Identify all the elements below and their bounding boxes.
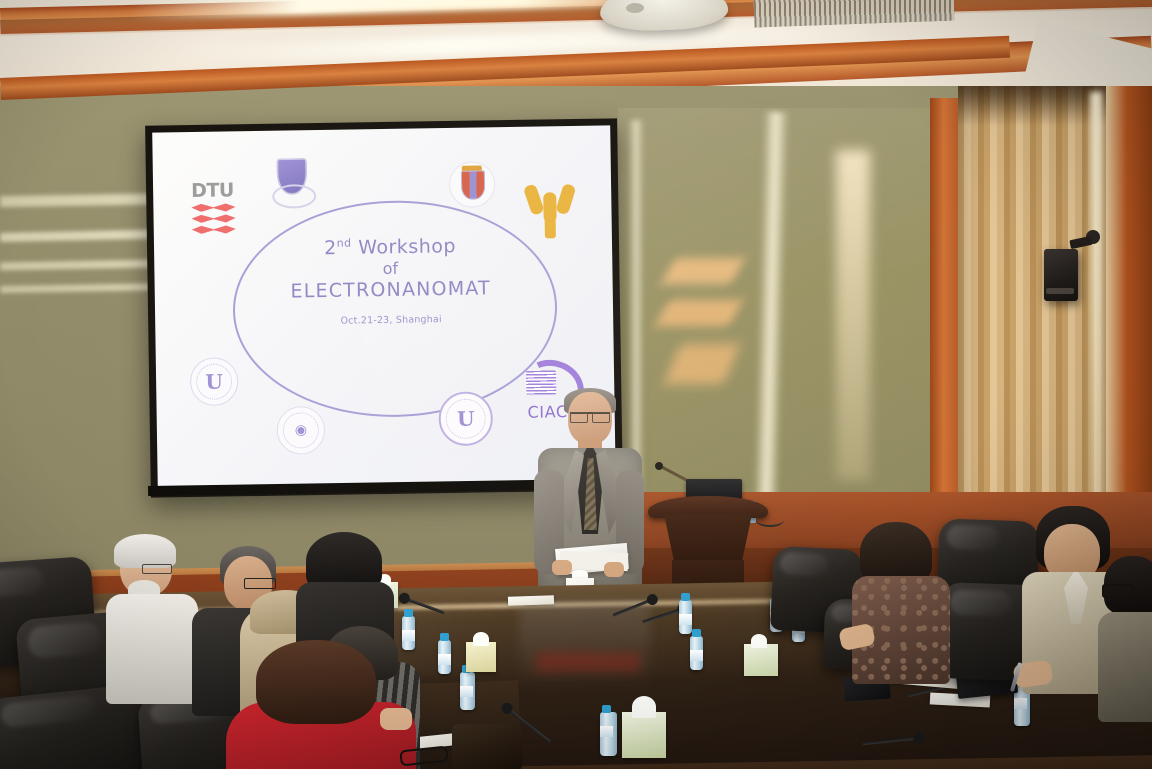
wall-speaker-grille — [1046, 288, 1074, 294]
attendee-patterned-blouse-woman — [846, 522, 952, 672]
attendee-glasses-woman — [1104, 556, 1152, 716]
tissue-box — [744, 644, 778, 676]
dtu-logo-label: DTU — [191, 181, 239, 201]
water-bottle — [690, 636, 703, 670]
attendee-glasses — [1102, 584, 1134, 598]
tissue-box — [622, 712, 666, 758]
water-bottle — [679, 600, 692, 634]
dtu-chevron-3 — [192, 225, 236, 234]
attendee-hair — [256, 640, 376, 724]
presenter-hand-right — [604, 562, 624, 577]
university-seal-right: U — [438, 391, 493, 446]
window-curtain — [958, 86, 1108, 538]
attendee-hair — [114, 534, 176, 568]
dtu-logo: DTU — [191, 181, 240, 238]
tissue-box — [466, 642, 496, 672]
dtu-chevron-2 — [192, 214, 236, 223]
slide-title-word: Workshop — [352, 235, 457, 259]
curtain-top-shadow — [958, 86, 1108, 126]
podium-column — [664, 514, 752, 564]
dtu-chevron-1 — [191, 203, 235, 212]
presenter-hand-left — [552, 560, 572, 575]
wall-sun-patch-1 — [661, 258, 745, 284]
attendee-glasses — [142, 564, 172, 574]
slide-title-line3: ELECTRONANOMAT — [241, 277, 541, 305]
slide-title-ordinal: 2 — [324, 237, 337, 259]
hvac-grille — [754, 0, 955, 27]
golden-tree-logo — [521, 178, 578, 241]
table-reflection-presenter — [520, 600, 650, 692]
tree-trunk — [544, 210, 555, 238]
slide-title-ordinal-suffix: nd — [337, 237, 352, 250]
university-seal-middle: ◉ — [277, 406, 326, 455]
attendee-body — [106, 594, 198, 704]
shield-crest-logo — [269, 158, 316, 207]
slide-text-block: 2nd Workshop of ELECTRONANOMAT Oct.21-23… — [240, 235, 541, 329]
tree-branch-right — [555, 183, 576, 215]
water-bottle — [600, 712, 617, 756]
presenter-glasses-left-lens — [570, 412, 588, 423]
conference-room-scene: 2nd Workshop of ELECTRONANOMAT Oct.21-23… — [0, 0, 1152, 769]
spanish-crest-logo — [449, 161, 496, 208]
seal-glyph: U — [457, 407, 475, 431]
wall-corner-glow — [836, 150, 870, 480]
tree-branch-left — [523, 183, 545, 216]
projector-lens — [626, 3, 644, 14]
table-papers — [508, 595, 554, 606]
attendee-white-haired-man — [104, 538, 200, 688]
wall-sun-patch-2 — [655, 300, 743, 326]
attendee-hair — [860, 522, 932, 584]
attendee-body — [1098, 612, 1152, 722]
attendee-red-jacket-woman — [226, 646, 416, 769]
right-wall-wood-trim — [1106, 86, 1152, 546]
seal-glyph: U — [205, 370, 223, 394]
shield-laurel-ring — [272, 184, 316, 209]
podium-microphone — [655, 462, 663, 470]
water-bottle — [438, 640, 451, 674]
crest-shield — [461, 170, 485, 199]
handbag — [452, 724, 522, 769]
water-bottle — [460, 672, 475, 710]
seal-glyph: ◉ — [295, 422, 307, 438]
attendee-hand — [380, 708, 412, 730]
table-reflection-red-jacket — [536, 652, 640, 672]
curtain-edge-light — [1090, 92, 1102, 542]
presenter-glasses-right-lens — [592, 412, 610, 423]
university-seal-left: U — [190, 357, 239, 406]
